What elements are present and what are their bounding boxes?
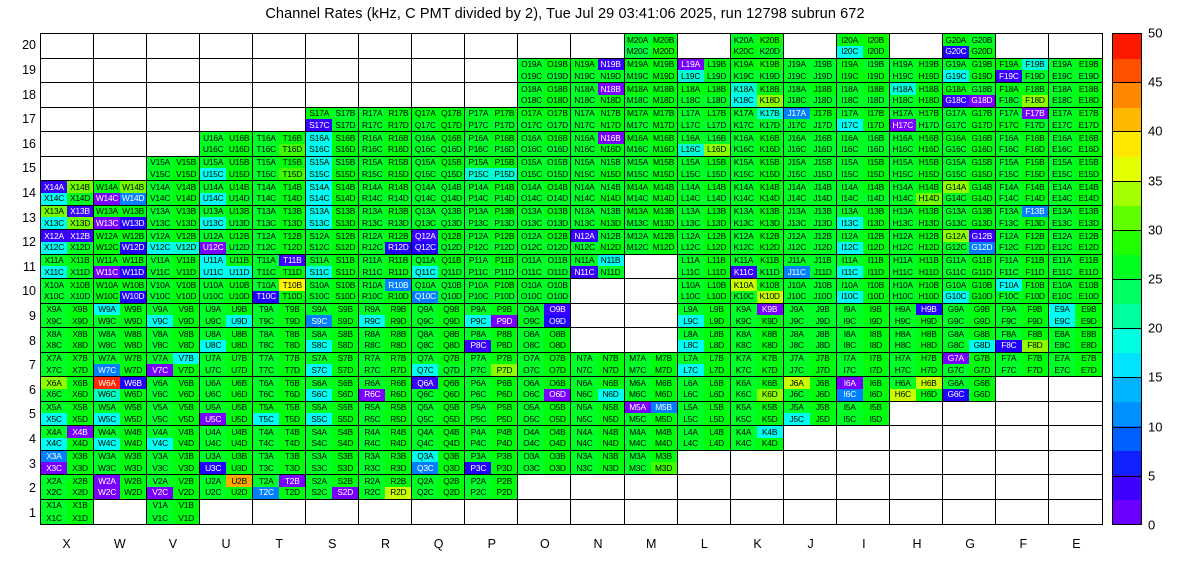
module-cell: L14AL14BL14CL14D — [678, 181, 731, 206]
channel-cell: L15B — [704, 157, 730, 169]
channel-cell: H9A — [890, 304, 916, 316]
module-cell — [306, 34, 359, 59]
channel-cell: J17D — [810, 119, 836, 131]
module-cell: E18AE18BE18CE18D — [1049, 83, 1102, 108]
channel-cell: U4A — [200, 426, 226, 438]
module-cell: G16AG16BG16CG16D — [943, 132, 996, 157]
module-cell: R12AR12BR12CR12D — [359, 230, 412, 255]
module-cell: L10AL10BL10CL10D — [678, 279, 731, 304]
channel-cell: P7B — [491, 353, 517, 365]
channel-cell — [359, 34, 385, 46]
module-cell — [412, 83, 465, 108]
channel-cell: N5C — [571, 413, 597, 425]
channel-cell — [1022, 377, 1048, 389]
module-cell: V3AV3BV3CV3D — [147, 451, 200, 476]
channel-cell: X8D — [67, 340, 93, 352]
channel-cell — [438, 59, 464, 71]
channel-cell: I11D — [863, 266, 889, 278]
channel-cell: R2D — [385, 487, 411, 499]
x-axis-tick-label: W — [93, 527, 146, 553]
channel-cell: I11A — [837, 255, 863, 267]
channel-cell: E19C — [1049, 70, 1076, 82]
channel-cell — [784, 438, 810, 450]
channel-cell — [491, 512, 517, 524]
module-cell — [359, 500, 412, 525]
channel-cell — [1049, 487, 1076, 499]
channel-cell: G14D — [969, 193, 995, 205]
channel-cell: S7A — [306, 353, 332, 365]
channel-cell — [226, 119, 252, 131]
channel-cell: U8D — [226, 340, 252, 352]
channel-cell: R16C — [359, 144, 385, 156]
channel-cell — [306, 500, 332, 512]
channel-cell — [731, 500, 757, 512]
channel-cell — [67, 70, 93, 82]
channel-cell — [784, 451, 810, 463]
module-cell: P11AP11BP11CP11D — [465, 255, 518, 280]
channel-cell: T6B — [279, 377, 305, 389]
channel-cell: I7D — [863, 364, 889, 376]
channel-cell: N12C — [571, 242, 597, 254]
channel-cell: M7A — [625, 353, 651, 365]
channel-cell: X10A — [41, 279, 67, 291]
channel-cell: N17B — [598, 108, 624, 120]
module-cell: P6AP6BP6CP6D — [465, 377, 518, 402]
heatmap-grid: M20AM20BM20CM20DK20AK20BK20CK20DI20AI20B… — [41, 34, 1102, 524]
module-cell — [837, 426, 890, 451]
channel-cell: L10D — [704, 291, 730, 303]
channel-cell: X4A — [41, 426, 67, 438]
channel-cell: T11B — [279, 255, 305, 267]
module-cell: J6AJ6BJ6CJ6D — [784, 377, 837, 402]
channel-cell: J14C — [784, 193, 810, 205]
module-cell — [1049, 402, 1102, 427]
channel-cell — [810, 34, 836, 46]
module-cell: O16AO16BO16CO16D — [518, 132, 571, 157]
channel-cell: M5B — [651, 402, 677, 414]
channel-cell: O17B — [544, 108, 570, 120]
channel-cell — [226, 59, 252, 71]
channel-cell — [41, 70, 67, 82]
channel-cell: G11A — [943, 255, 969, 267]
channel-cell: O18A — [518, 83, 544, 95]
channel-cell: S12C — [306, 242, 332, 254]
channel-cell: S8B — [332, 328, 358, 340]
channel-cell — [863, 512, 889, 524]
channel-cell: X5C — [41, 413, 67, 425]
channel-cell: R5C — [359, 413, 385, 425]
module-cell: K19AK19BK19CK19D — [731, 59, 784, 84]
channel-cell: K14C — [731, 193, 757, 205]
channel-cell: N16B — [598, 132, 624, 144]
module-cell — [359, 83, 412, 108]
channel-cell: P17A — [465, 108, 491, 120]
channel-cell: L6C — [678, 389, 704, 401]
channel-cell — [412, 95, 438, 107]
channel-cell: I20D — [863, 46, 889, 58]
colorbar-tick-label: 45 — [1148, 75, 1162, 90]
channel-cell: R8B — [385, 328, 411, 340]
channel-cell: I12A — [837, 230, 863, 242]
channel-cell: I16B — [863, 132, 889, 144]
channel-cell — [147, 83, 173, 95]
channel-cell: O17D — [544, 119, 570, 131]
module-cell: P8AP8BP8CP8D — [465, 328, 518, 353]
channel-cell: U16C — [200, 144, 226, 156]
channel-cell: Q13B — [438, 206, 464, 218]
module-cell: L6AL6BL6CL6D — [678, 377, 731, 402]
channel-cell — [200, 34, 226, 46]
channel-cell: L10A — [678, 279, 704, 291]
channel-cell: V10D — [173, 291, 199, 303]
channel-cell: M17A — [625, 108, 651, 120]
module-cell: W10AW10BW10CW10D — [94, 279, 147, 304]
channel-cell: P12B — [491, 230, 517, 242]
channel-cell: O5D — [544, 413, 570, 425]
channel-cell — [916, 475, 942, 487]
channel-cell: E15B — [1075, 157, 1102, 169]
channel-cell — [332, 59, 358, 71]
channel-cell: T8B — [279, 328, 305, 340]
channel-cell: U14A — [200, 181, 226, 193]
module-cell: K10AK10BK10CK10D — [731, 279, 784, 304]
channel-cell: O6D — [544, 389, 570, 401]
channel-cell: G10A — [943, 279, 969, 291]
channel-cell: E13D — [1075, 217, 1102, 229]
channel-cell — [784, 426, 810, 438]
channel-cell: V1A — [147, 500, 173, 512]
channel-cell: R4B — [385, 426, 411, 438]
channel-cell: I7B — [863, 353, 889, 365]
channel-cell: P9D — [491, 315, 517, 327]
channel-cell: U3C — [200, 462, 226, 474]
channel-cell — [120, 168, 146, 180]
channel-cell: X2C — [41, 487, 67, 499]
channel-cell — [200, 119, 226, 131]
module-cell: T4AT4BT4CT4D — [253, 426, 306, 451]
module-cell: M20AM20BM20CM20D — [625, 34, 678, 59]
channel-cell: I9B — [863, 304, 889, 316]
module-cell: I9AI9BI9CI9D — [837, 304, 890, 329]
channel-cell: E11D — [1075, 266, 1102, 278]
channel-cell: L8C — [678, 340, 704, 352]
channel-cell: F7C — [996, 364, 1022, 376]
channel-cell: N12A — [571, 230, 597, 242]
channel-cell — [518, 487, 544, 499]
module-cell — [784, 475, 837, 500]
channel-cell: S11D — [332, 266, 358, 278]
module-cell: V2AV2BV2CV2D — [147, 475, 200, 500]
channel-cell: W3D — [120, 462, 146, 474]
module-cell: T8AT8BT8CT8D — [253, 328, 306, 353]
channel-cell: U8C — [200, 340, 226, 352]
channel-cell — [173, 70, 199, 82]
channel-cell: T15D — [279, 168, 305, 180]
channel-cell: I18D — [863, 95, 889, 107]
channel-cell: O18C — [518, 95, 544, 107]
channel-cell: J9A — [784, 304, 810, 316]
channel-cell: S9B — [332, 304, 358, 316]
channel-cell: U6A — [200, 377, 226, 389]
module-cell: W3AW3BW3CW3D — [94, 451, 147, 476]
channel-cell: K17B — [757, 108, 783, 120]
channel-cell: I19B — [863, 59, 889, 71]
channel-cell: Q11C — [412, 266, 438, 278]
channel-cell — [94, 500, 120, 512]
channel-cell: J17A — [784, 108, 810, 120]
channel-cell: U7B — [226, 353, 252, 365]
channel-cell — [332, 70, 358, 82]
channel-cell — [996, 475, 1022, 487]
channel-cell: H13C — [890, 217, 916, 229]
module-cell — [200, 108, 253, 133]
channel-cell: T11D — [279, 266, 305, 278]
channel-cell: S14C — [306, 193, 332, 205]
module-cell: O7AO7BO7CO7D — [518, 353, 571, 378]
channel-cell — [465, 34, 491, 46]
channel-cell: G19B — [969, 59, 995, 71]
channel-cell: S3C — [306, 462, 332, 474]
colorbar-tick — [1112, 328, 1142, 329]
channel-cell: L9D — [704, 315, 730, 327]
channel-cell: F8D — [1022, 340, 1048, 352]
channel-cell: K6A — [731, 377, 757, 389]
channel-cell: P5B — [491, 402, 517, 414]
channel-cell — [173, 144, 199, 156]
channel-cell: L14C — [678, 193, 704, 205]
channel-cell — [651, 266, 677, 278]
module-cell: M5AM5BM5CM5D — [625, 402, 678, 427]
channel-cell: M7D — [651, 364, 677, 376]
channel-cell: I10A — [837, 279, 863, 291]
module-cell: P9AP9BP9CP9D — [465, 304, 518, 329]
channel-cell — [598, 340, 624, 352]
channel-cell: R7B — [385, 353, 411, 365]
module-cell — [625, 328, 678, 353]
module-cell: P16AP16BP16CP16D — [465, 132, 518, 157]
channel-cell — [996, 389, 1022, 401]
colorbar-tick-label: 5 — [1148, 468, 1155, 483]
channel-cell — [491, 46, 517, 58]
module-cell: N6AN6BN6CN6D — [571, 377, 624, 402]
channel-cell: L14B — [704, 181, 730, 193]
channel-cell: Q9A — [412, 304, 438, 316]
channel-cell — [120, 512, 146, 524]
module-cell: G6AG6BG6CG6D — [943, 377, 996, 402]
channel-cell — [41, 46, 67, 58]
channel-cell: Q9C — [412, 315, 438, 327]
x-axis-tick-label: S — [306, 527, 359, 553]
channel-cell: Q12B — [438, 230, 464, 242]
channel-cell: I6B — [863, 377, 889, 389]
channel-cell: M6A — [625, 377, 651, 389]
x-axis-tick-label: L — [678, 527, 731, 553]
channel-cell — [916, 462, 942, 474]
channel-cell — [598, 500, 624, 512]
channel-cell: P4C — [465, 438, 491, 450]
module-cell — [625, 255, 678, 280]
channel-cell: K9B — [757, 304, 783, 316]
channel-cell: S5A — [306, 402, 332, 414]
module-cell — [465, 500, 518, 525]
channel-cell — [731, 487, 757, 499]
channel-cell: I19C — [837, 70, 863, 82]
module-cell: E11AE11BE11CE11D — [1049, 255, 1102, 280]
channel-cell: J7A — [784, 353, 810, 365]
channel-cell: L11B — [704, 255, 730, 267]
channel-cell — [438, 34, 464, 46]
channel-cell: E13B — [1075, 206, 1102, 218]
module-cell — [41, 132, 94, 157]
colorbar-tick-label: 40 — [1148, 124, 1162, 139]
module-cell: N7AN7BN7CN7D — [571, 353, 624, 378]
channel-cell: L16A — [678, 132, 704, 144]
channel-cell: L19D — [704, 70, 730, 82]
x-axis-tick-label: M — [625, 527, 678, 553]
channel-cell: V5A — [147, 402, 173, 414]
channel-cell: F12D — [1022, 242, 1048, 254]
channel-cell: N5A — [571, 402, 597, 414]
module-cell: Q15AQ15BQ15CQ15D — [412, 157, 465, 182]
channel-cell: T9D — [279, 315, 305, 327]
module-cell: V6AV6BV6CV6D — [147, 377, 200, 402]
channel-cell — [598, 315, 624, 327]
channel-cell: K15D — [757, 168, 783, 180]
channel-cell: F11A — [996, 255, 1022, 267]
channel-cell — [1049, 46, 1076, 58]
channel-cell: G15B — [969, 157, 995, 169]
channel-cell: N19A — [571, 59, 597, 71]
page-title: Channel Rates (kHz, C PMT divided by 2),… — [0, 6, 1130, 22]
channel-cell: Q11D — [438, 266, 464, 278]
channel-cell: J8C — [784, 340, 810, 352]
channel-cell — [757, 451, 783, 463]
y-axis-tick-label: 14 — [2, 186, 36, 200]
channel-cell: S5C — [306, 413, 332, 425]
channel-cell: M16A — [625, 132, 651, 144]
channel-cell: S16A — [306, 132, 332, 144]
channel-cell — [837, 451, 863, 463]
module-cell: F9AF9BF9CF9D — [996, 304, 1049, 329]
module-cell: L16AL16BL16CL16D — [678, 132, 731, 157]
module-cell — [1049, 377, 1102, 402]
channel-cell: K16A — [731, 132, 757, 144]
channel-cell: V3C — [147, 462, 173, 474]
y-axis-tick-label: 18 — [2, 88, 36, 102]
channel-cell — [996, 512, 1022, 524]
channel-cell: V15D — [173, 168, 199, 180]
channel-cell — [916, 46, 942, 58]
channel-cell: O14C — [518, 193, 544, 205]
channel-cell: X12A — [41, 230, 67, 242]
channel-cell: P2C — [465, 487, 491, 499]
channel-cell — [385, 70, 411, 82]
channel-cell: M6D — [651, 389, 677, 401]
channel-cell — [173, 34, 199, 46]
channel-cell: T6C — [253, 389, 279, 401]
channel-cell: M15A — [625, 157, 651, 169]
module-cell: X10AX10BX10CX10D — [41, 279, 94, 304]
module-cell: S15AS15BS15CS15D — [306, 157, 359, 182]
channel-cell: F18C — [996, 95, 1022, 107]
channel-cell: J10C — [784, 291, 810, 303]
module-cell: L11AL11BL11CL11D — [678, 255, 731, 280]
channel-cell: V2B — [173, 475, 199, 487]
channel-cell: G13D — [969, 217, 995, 229]
channel-cell: S17B — [332, 108, 358, 120]
module-cell: K18AK18BK18CK18D — [731, 83, 784, 108]
module-cell: O15AO15BO15CO15D — [518, 157, 571, 182]
channel-cell — [1049, 500, 1076, 512]
channel-cell: X10B — [67, 279, 93, 291]
channel-cell: L19B — [704, 59, 730, 71]
channel-cell: L9C — [678, 315, 704, 327]
channel-cell: O11B — [544, 255, 570, 267]
channel-cell: W8D — [120, 340, 146, 352]
channel-cell: T12C — [253, 242, 279, 254]
channel-cell: W9A — [94, 304, 120, 316]
channel-cell: S4B — [332, 426, 358, 438]
channel-cell: L13B — [704, 206, 730, 218]
channel-cell — [571, 487, 597, 499]
channel-cell — [598, 304, 624, 316]
module-cell — [41, 157, 94, 182]
channel-cell — [1049, 377, 1076, 389]
channel-cell: P5C — [465, 413, 491, 425]
channel-cell: T4A — [253, 426, 279, 438]
channel-cell: G11D — [969, 266, 995, 278]
channel-cell: Q12D — [438, 242, 464, 254]
channel-cell: O13B — [544, 206, 570, 218]
channel-cell — [120, 34, 146, 46]
channel-cell: N14A — [571, 181, 597, 193]
channel-cell — [731, 475, 757, 487]
channel-cell: V10B — [173, 279, 199, 291]
module-cell: S11AS11BS11CS11D — [306, 255, 359, 280]
channel-cell: I13A — [837, 206, 863, 218]
channel-cell: U11B — [226, 255, 252, 267]
channel-cell: S5D — [332, 413, 358, 425]
channel-cell: K18A — [731, 83, 757, 95]
colorbar-tick — [1112, 377, 1142, 378]
module-cell: S8AS8BS8CS8D — [306, 328, 359, 353]
channel-cell — [544, 487, 570, 499]
channel-cell: U3B — [226, 451, 252, 463]
channel-cell: T6D — [279, 389, 305, 401]
channel-cell: Q14C — [412, 193, 438, 205]
channel-cell: P9C — [465, 315, 491, 327]
channel-cell — [120, 132, 146, 144]
channel-cell: G16A — [943, 132, 969, 144]
channel-cell: T11A — [253, 255, 279, 267]
channel-cell: G6D — [969, 389, 995, 401]
channel-cell: E18A — [1049, 83, 1076, 95]
module-cell: R7AR7BR7CR7D — [359, 353, 412, 378]
channel-cell: G9B — [969, 304, 995, 316]
module-cell: H11AH11BH11CH11D — [890, 255, 943, 280]
channel-cell — [1049, 462, 1076, 474]
channel-cell: J8A — [784, 328, 810, 340]
channel-cell — [253, 108, 279, 120]
channel-cell — [253, 83, 279, 95]
channel-cell: X11C — [41, 266, 67, 278]
channel-cell: R10A — [359, 279, 385, 291]
channel-cell: E11A — [1049, 255, 1076, 267]
channel-cell: H19D — [916, 70, 942, 82]
module-cell: R8AR8BR8CR8D — [359, 328, 412, 353]
channel-cell: K6B — [757, 377, 783, 389]
channel-cell: F19C — [996, 70, 1022, 82]
